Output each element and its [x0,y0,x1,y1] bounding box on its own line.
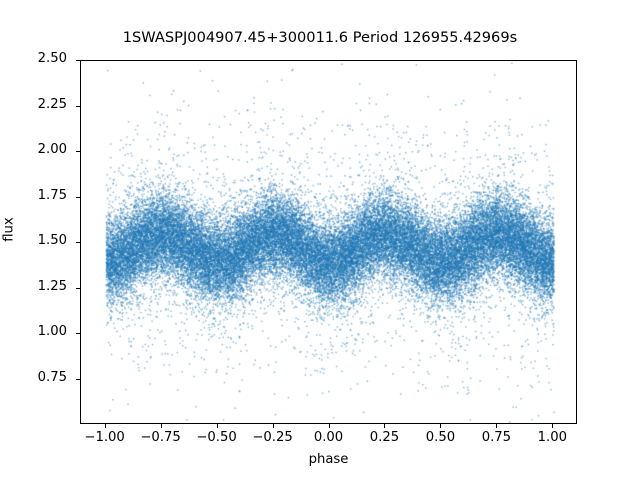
y-tick-label: 2.00 [7,142,67,157]
x-tick-mark [161,424,162,428]
y-tick-label: 2.50 [7,51,67,66]
scatter-plot-points [81,61,577,424]
x-tick-mark [329,424,330,428]
x-axis-label: phase [80,452,577,467]
y-tick-mark [76,60,80,61]
x-tick-mark [496,424,497,428]
x-tick-mark [217,424,218,428]
y-tick-mark [76,151,80,152]
chart-title: 1SWASPJ004907.45+300011.6 Period 126955.… [0,29,640,46]
figure-canvas: 1SWASPJ004907.45+300011.6 Period 126955.… [0,0,640,480]
x-tick-label: 1.00 [512,430,592,445]
y-tick-mark [76,333,80,334]
x-tick-mark [273,424,274,428]
x-tick-mark [384,424,385,428]
plot-axes-frame [80,60,577,424]
y-tick-label: 1.50 [7,233,67,248]
y-tick-label: 2.25 [7,97,67,112]
x-tick-mark [105,424,106,428]
y-tick-mark [76,242,80,243]
y-tick-mark [76,379,80,380]
x-tick-mark [440,424,441,428]
y-tick-label: 1.75 [7,188,67,203]
y-tick-mark [76,106,80,107]
y-tick-label: 0.75 [7,370,67,385]
y-tick-label: 1.25 [7,279,67,294]
x-tick-mark [552,424,553,428]
y-tick-mark [76,197,80,198]
y-tick-label: 1.00 [7,324,67,339]
y-tick-mark [76,288,80,289]
y-axis-label: flux [2,200,17,260]
